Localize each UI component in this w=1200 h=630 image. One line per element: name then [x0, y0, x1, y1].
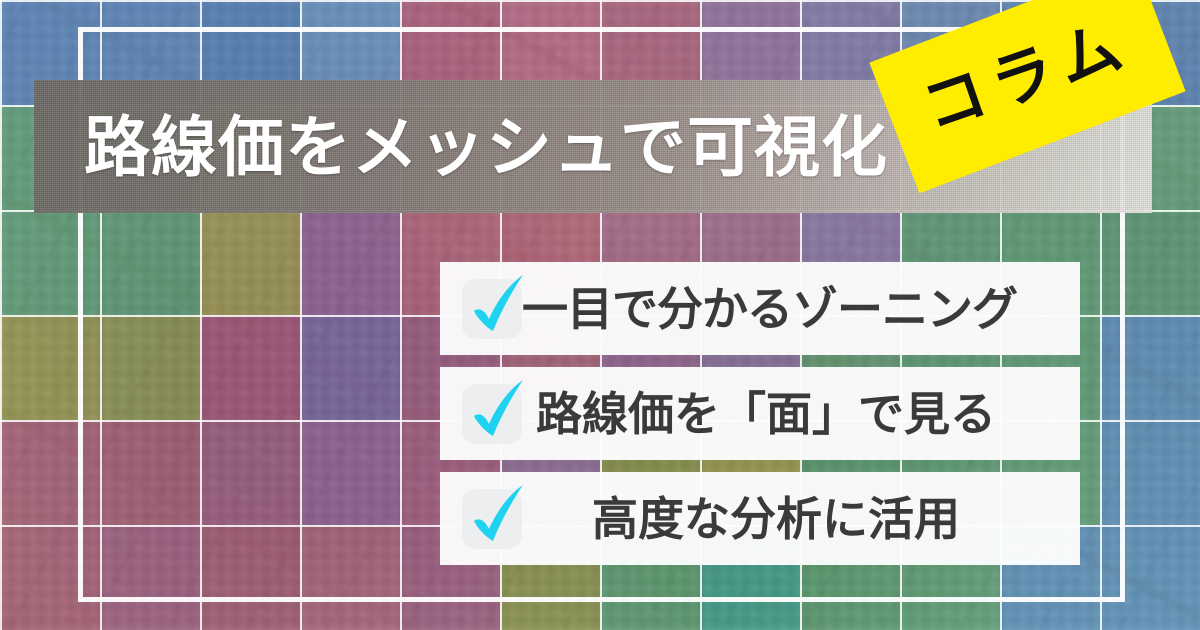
banner-canvas: 路線価をメッシュで可視化 コラム 一目で分かるゾーニング路線価を「面」で見る高度… [0, 0, 1200, 630]
category-badge-label: コラム [916, 13, 1139, 141]
checklist-item: 一目で分かるゾーニング [440, 262, 1080, 355]
checklist-item-label: 一目で分かるゾーニング [522, 286, 1017, 332]
checklist-item-label: 高度な分析に活用 [592, 496, 960, 542]
checklist-item: 高度な分析に活用 [440, 472, 1080, 565]
checkbox-icon [462, 279, 522, 339]
checkbox-icon [462, 384, 522, 444]
feature-checklist: 一目で分かるゾーニング路線価を「面」で見る高度な分析に活用 [440, 262, 1080, 577]
checklist-item: 路線価を「面」で見る [440, 367, 1080, 460]
page-title: 路線価をメッシュで可視化 [84, 114, 888, 180]
checkbox-icon [462, 489, 522, 549]
checklist-item-label: 路線価を「面」で見る [536, 391, 996, 437]
